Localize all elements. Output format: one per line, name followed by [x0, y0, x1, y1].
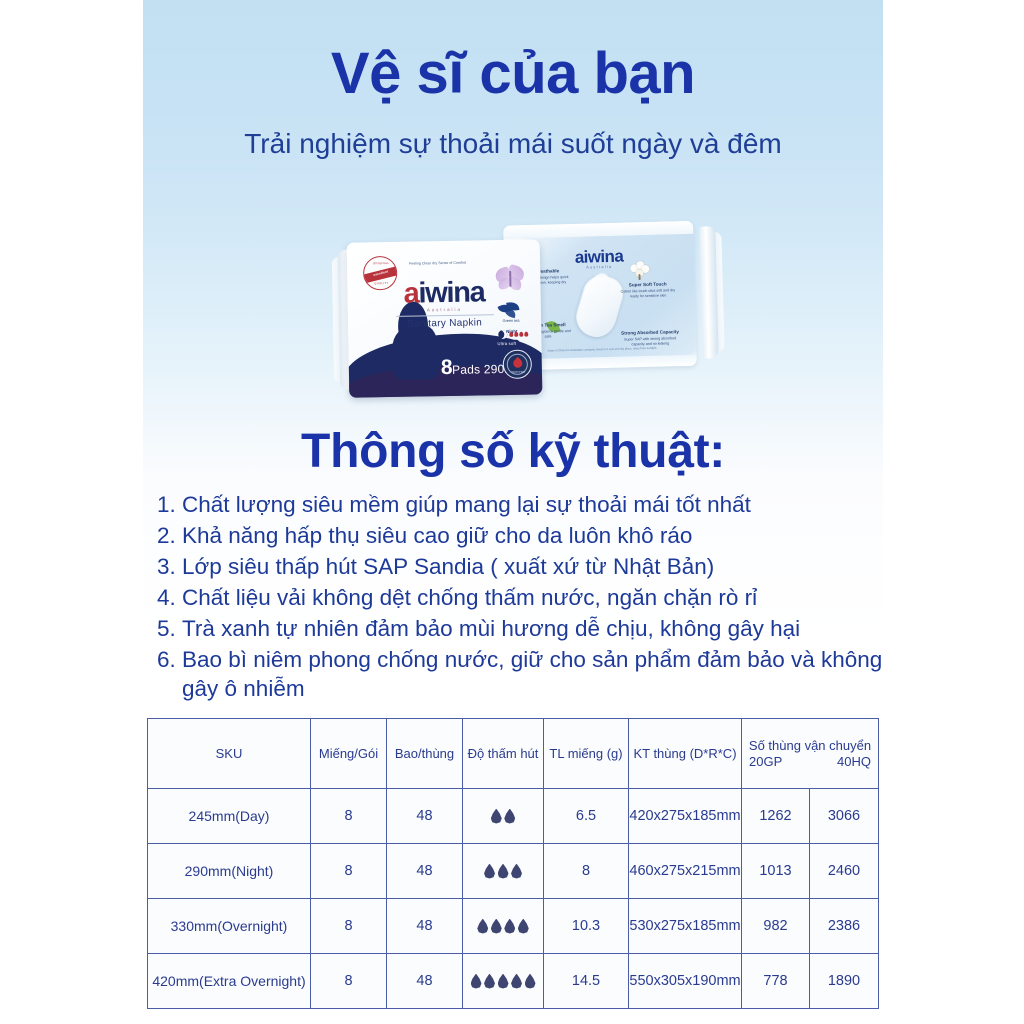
droplet-icon: [484, 974, 495, 989]
col-header-carton-size: KT thùng (D*R*C): [629, 719, 742, 789]
droplet-icon: [484, 864, 495, 879]
pack-front-body: ORIGINAL excellent QUALITY Feeling Clean…: [347, 239, 543, 397]
cell-absorbency: [463, 899, 544, 954]
pack-front-brand: aiwina: [403, 278, 484, 308]
spec-table: SKU Miếng/Gói Bao/thùng Độ thấm hút TL m…: [147, 718, 879, 1009]
seal-band-text: excellent: [365, 267, 397, 279]
absorbency-droplets-icon: [463, 919, 543, 934]
cell-carton-size: 530x275x185mm: [629, 899, 742, 954]
table-row: 290mm(Night)8488460x275x215mm10132460: [148, 844, 879, 899]
emblem-text: CERTIFIED: [504, 371, 532, 375]
seal-arc-top-text: ORIGINAL: [364, 261, 398, 266]
cell-sku: 330mm(Overnight): [148, 899, 311, 954]
feature-number: 3.: [157, 552, 182, 581]
pack-back-brand-sub: Australia: [586, 264, 612, 270]
droplet-icon: [471, 974, 482, 989]
feature-list-item: 3.Lớp siêu thấp hút SAP Sandia ( xuất xứ…: [157, 552, 883, 581]
feature-number: 6.: [157, 645, 182, 674]
feature-text: Bao bì niêm phong chống nước, giữ cho sả…: [182, 645, 883, 703]
cell-sku: 290mm(Night): [148, 844, 311, 899]
cell-shipping-20gp: 778: [742, 954, 810, 1009]
feature-list-item: 5.Trà xanh tự nhiên đảm bảo mùi hương dễ…: [157, 614, 883, 643]
cotton-ball-icon: [630, 261, 650, 280]
shipping-40hq-label: 40HQ: [837, 754, 871, 769]
cell-weight: 10.3: [544, 899, 629, 954]
cell-per-pack: 8: [311, 789, 387, 844]
cell-weight: 14.5: [544, 954, 629, 1009]
droplet-icon: [491, 919, 502, 934]
pack-back-feature-top-right: Super Soft Touch Cotton like touch ultra…: [617, 281, 679, 300]
feature-text: Chất liệu vải không dệt chống thấm nước,…: [182, 583, 883, 612]
col-header-per-pack: Miếng/Gói: [311, 719, 387, 789]
feature-text: Khả năng hấp thụ siêu cao giữ cho da luô…: [182, 521, 883, 550]
feature-number: 4.: [157, 583, 182, 612]
absorbency-droplets-icon: [463, 974, 543, 989]
col-header-weight: TL miếng (g): [544, 719, 629, 789]
header-block: Vệ sĩ của bạn Trải nghiệm sự thoải mái s…: [143, 44, 883, 160]
cell-sku: 420mm(Extra Overnight): [148, 954, 311, 1009]
table-row: 420mm(Extra Overnight)84814.5550x305x190…: [148, 954, 879, 1009]
droplet-icon: [504, 919, 515, 934]
droplet-icon: [498, 974, 509, 989]
cell-per-pack: 8: [311, 844, 387, 899]
ultra-soft-badge: Ultra soft: [494, 340, 519, 347]
cell-shipping-20gp: 1262: [742, 789, 810, 844]
cell-sku: 245mm(Day): [148, 789, 311, 844]
page-title: Vệ sĩ của bạn: [143, 44, 883, 105]
cell-shipping-40hq: 2386: [810, 899, 879, 954]
cell-shipping-20gp: 982: [742, 899, 810, 954]
droplet-icon: [491, 809, 502, 824]
feature-text: Trà xanh tự nhiên đảm bảo mùi hương dễ c…: [182, 614, 883, 643]
product-image: aiwina Australia Breathable Unique desig…: [330, 215, 730, 415]
cell-absorbency: [463, 789, 544, 844]
cell-absorbency: [463, 954, 544, 1009]
shipping-20gp-label: 20GP: [749, 754, 782, 769]
feature-text: Lớp siêu thấp hút SAP Sandia ( xuất xứ t…: [182, 552, 883, 581]
droplet-icon: [518, 919, 529, 934]
feature-text: Chất lượng siêu mềm giúp mang lại sự tho…: [182, 490, 883, 519]
droplet-icon: [477, 919, 488, 934]
table-row: 245mm(Day)8486.5420x275x185mm12623066: [148, 789, 879, 844]
cell-carton-size: 420x275x185mm: [629, 789, 742, 844]
cell-carton-size: 460x275x215mm: [629, 844, 742, 899]
feature-list: 1.Chất lượng siêu mềm giúp mang lại sự t…: [157, 490, 883, 705]
col-header-shipping-group: Số thùng vận chuyển 20GP 40HQ: [742, 719, 879, 789]
col-header-absorbency: Độ thấm hút: [463, 719, 544, 789]
pack-back-top-fold: [503, 221, 693, 239]
cell-carton-size: 550x305x190mm: [629, 954, 742, 1009]
cell-shipping-20gp: 1013: [742, 844, 810, 899]
pack-front-top-small-text: Feeling Clean dry Sense of Comfort: [409, 261, 466, 267]
feature-list-item: 4.Chất liệu vải không dệt chống thấm nướ…: [157, 583, 883, 612]
droplet-icon: [525, 974, 536, 989]
feature-list-item: 6.Bao bì niêm phong chống nước, giữ cho …: [157, 645, 883, 703]
green-tea-leaf-icon: [499, 300, 521, 317]
spec-table-body: 245mm(Day)8486.5420x275x185mm12623066290…: [148, 789, 879, 1009]
pack-back-feature-br-title: Strong Absorbed Capacity: [621, 329, 679, 336]
droplet-icon: [511, 864, 522, 879]
feature-number: 5.: [157, 614, 182, 643]
pack-count-number: 8: [441, 356, 453, 379]
feature-number: 2.: [157, 521, 182, 550]
cell-shipping-40hq: 3066: [810, 789, 879, 844]
cell-shipping-40hq: 1890: [810, 954, 879, 1009]
cell-weight: 6.5: [544, 789, 629, 844]
absorbency-droplets-icon: [463, 864, 543, 879]
pack-back-feature-tr-title: Super Soft Touch: [629, 281, 667, 287]
droplet-icon: [504, 809, 515, 824]
absorbency-dots-icon: [509, 332, 528, 337]
product-pack-front: ORIGINAL excellent QUALITY Feeling Clean…: [347, 239, 550, 397]
absorbency-droplets-icon: [463, 809, 543, 824]
droplet-icon: [498, 864, 509, 879]
pack-front-product-type: Sanitary Napkin: [407, 317, 482, 329]
droplet-icon: [511, 974, 522, 989]
quality-seal-badge: ORIGINAL excellent QUALITY: [363, 256, 398, 291]
infographic-page: Vệ sĩ của bạn Trải nghiệm sự thoải mái s…: [0, 0, 1024, 1024]
cell-per-pack: 8: [311, 954, 387, 1009]
cell-weight: 8: [544, 844, 629, 899]
feature-list-item: 1.Chất lượng siêu mềm giúp mang lại sự t…: [157, 490, 883, 519]
spec-table-container: SKU Miếng/Gói Bao/thùng Độ thấm hút TL m…: [147, 718, 878, 1009]
shipping-group-label: Số thùng vận chuyển: [749, 738, 871, 753]
cell-packs-per-carton: 48: [387, 899, 463, 954]
cell-absorbency: [463, 844, 544, 899]
feature-list-item: 2.Khả năng hấp thụ siêu cao giữ cho da l…: [157, 521, 883, 550]
cell-per-pack: 8: [311, 899, 387, 954]
seal-arc-bottom-text: QUALITY: [364, 281, 397, 286]
spec-table-header-row: SKU Miếng/Gói Bao/thùng Độ thấm hút TL m…: [148, 719, 879, 789]
pack-back-feature-tr-text: Cotton like touch ultra soft and dry rea…: [621, 288, 676, 299]
green-tea-label: Green tea: [494, 319, 528, 324]
col-header-packs-per-carton: Bao/thùng: [387, 719, 463, 789]
spec-table-head: SKU Miếng/Gói Bao/thùng Độ thấm hút TL m…: [148, 719, 879, 789]
page-subtitle: Trải nghiệm sự thoải mái suốt ngày và đê…: [143, 127, 883, 161]
pack-back-edge-inner: [699, 226, 718, 358]
spec-section-title: Thông số kỹ thuật:: [143, 424, 883, 479]
butterfly-icon: [495, 266, 525, 293]
cell-shipping-40hq: 2460: [810, 844, 879, 899]
feature-number: 1.: [157, 490, 182, 519]
col-header-sku: SKU: [148, 719, 311, 789]
cell-packs-per-carton: 48: [387, 954, 463, 1009]
cell-packs-per-carton: 48: [387, 789, 463, 844]
table-row: 330mm(Overnight)84810.3530x275x185mm9822…: [148, 899, 879, 954]
pack-front-brand-sub: Australia: [427, 307, 462, 313]
cell-packs-per-carton: 48: [387, 844, 463, 899]
